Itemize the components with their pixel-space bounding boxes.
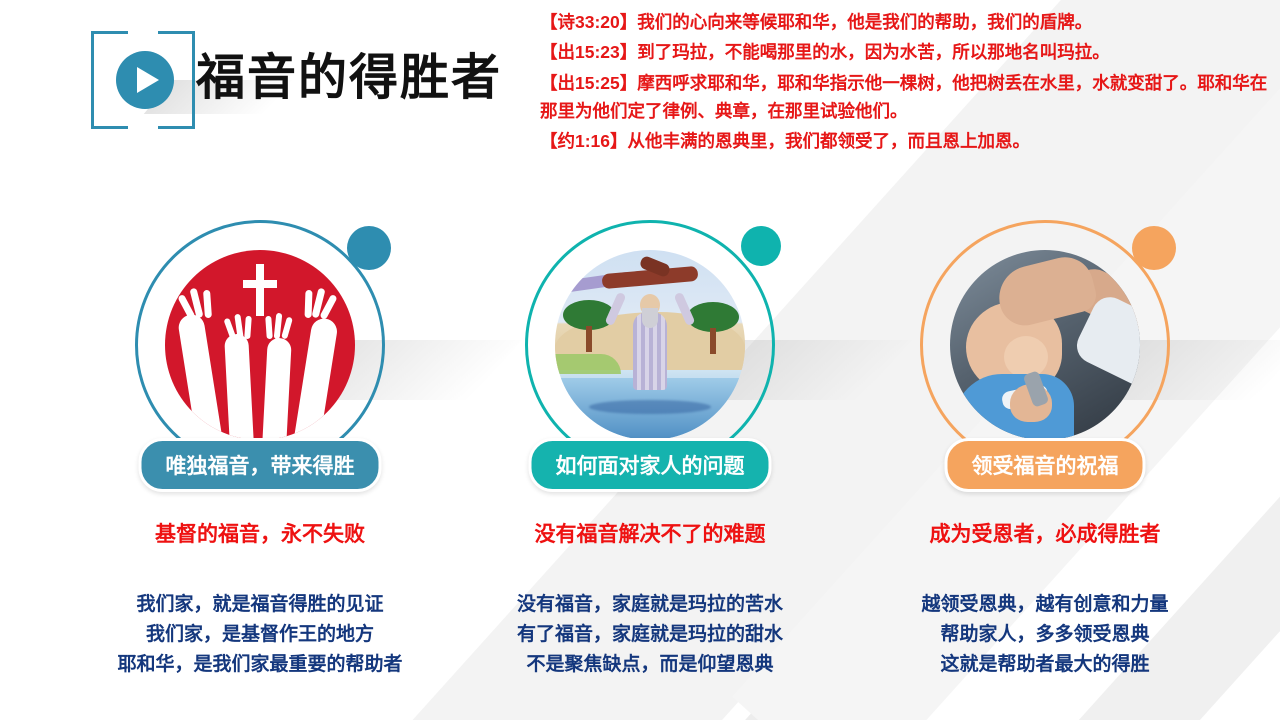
panel-badge[interactable]: 如何面对家人的问题 (529, 438, 772, 492)
panel-ring (135, 220, 385, 470)
panel-badge[interactable]: 唯独福音，带来得胜 (139, 438, 382, 492)
panel-gospel-victory[interactable]: 唯独福音，带来得胜 基督的福音，永不失败 我们家，就是福音得胜的见证 我们家，是… (95, 220, 425, 690)
slide-header: 福音的得胜者 【诗33:20】我们的心向来等候耶和华，他是我们的帮助，我们的盾牌… (0, 0, 1280, 180)
panel-headline: 基督的福音，永不失败 (95, 518, 425, 548)
body-line: 越领受恩典，越有创意和力量 (852, 590, 1238, 620)
body-line: 帮助家人，多多领受恩典 (852, 620, 1238, 650)
panel-body: 越领受恩典，越有创意和力量 帮助家人，多多领受恩典 这就是帮助者最大的得胜 (852, 590, 1238, 680)
panel-headline: 成为受恩者，必成得胜者 (880, 518, 1210, 548)
panel-ring (525, 220, 775, 470)
raised-hands-cross-icon (165, 250, 355, 440)
hand-blessing-baby-photo (950, 250, 1140, 440)
body-line: 有了福音，家庭就是玛拉的甜水 (457, 620, 843, 650)
body-line: 耶和华，是我们家最重要的帮助者 (67, 650, 453, 680)
panel-body: 我们家，就是福音得胜的见证 我们家，是基督作王的地方 耶和华，是我们家最重要的帮… (67, 590, 453, 680)
panel-headline: 没有福音解决不了的难题 (485, 518, 815, 548)
scripture-block: 【诗33:20】我们的心向来等候耶和华，他是我们的帮助，我们的盾牌。 【出15:… (540, 8, 1270, 158)
body-line: 没有福音，家庭就是玛拉的苦水 (457, 590, 843, 620)
panel-receive-blessing[interactable]: 领受福音的祝福 成为受恩者，必成得胜者 越领受恩典，越有创意和力量 帮助家人，多… (880, 220, 1210, 690)
panel-ring (920, 220, 1170, 470)
panel-body: 没有福音，家庭就是玛拉的苦水 有了福音，家庭就是玛拉的甜水 不是聚焦缺点，而是仰… (457, 590, 843, 680)
panel-badge[interactable]: 领受福音的祝福 (945, 438, 1146, 492)
scripture-verse: 【出15:23】到了玛拉，不能喝那里的水，因为水苦，所以那地名叫玛拉。 (540, 38, 1270, 66)
play-button-icon (88, 28, 198, 132)
panel-family-problems[interactable]: 如何面对家人的问题 没有福音解决不了的难题 没有福音，家庭就是玛拉的苦水 有了福… (485, 220, 815, 690)
body-line: 不是聚焦缺点，而是仰望恩典 (457, 650, 843, 680)
body-line: 我们家，就是福音得胜的见证 (67, 590, 453, 620)
body-line: 这就是帮助者最大的得胜 (852, 650, 1238, 680)
moses-marah-water-illustration (555, 250, 745, 440)
ring-accent-dot (741, 226, 781, 266)
page-title: 福音的得胜者 (196, 38, 502, 109)
body-line: 我们家，是基督作王的地方 (67, 620, 453, 650)
play-circle-icon (116, 51, 174, 109)
scripture-verse: 【约1:16】从他丰满的恩典里，我们都领受了，而且恩上加恩。 (540, 127, 1270, 155)
scripture-verse: 【出15:25】摩西呼求耶和华，耶和华指示他一棵树，他把树丢在水里，水就变甜了。… (540, 69, 1270, 126)
scripture-verse: 【诗33:20】我们的心向来等候耶和华，他是我们的帮助，我们的盾牌。 (540, 8, 1270, 36)
